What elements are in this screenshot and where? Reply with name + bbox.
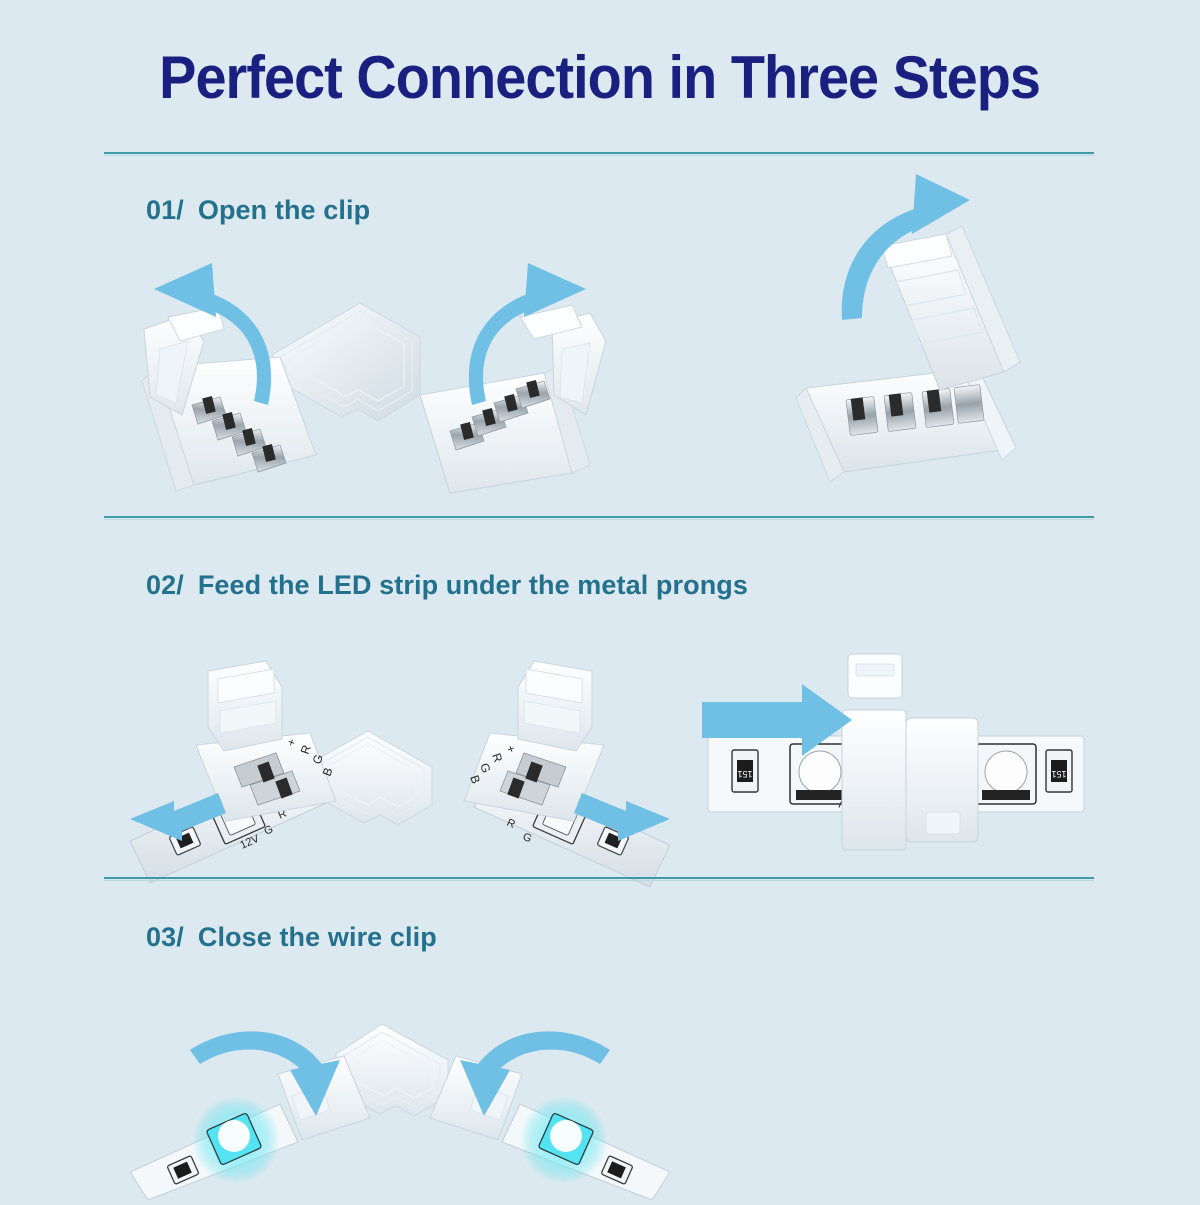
page-title: Perfect Connection in Three Steps bbox=[160, 48, 1041, 108]
divider-sub-line bbox=[104, 880, 1094, 881]
figure-straight-connector-feed-strip: 151 151 R R G 12V bbox=[690, 640, 1100, 885]
connector-body bbox=[842, 654, 978, 850]
connector-left-arm bbox=[142, 307, 316, 491]
figure-l-connector-closed-lit bbox=[130, 1000, 670, 1200]
step-text-02: Feed the LED strip under the metal prong… bbox=[198, 570, 748, 600]
step-number-03: 03/ bbox=[146, 922, 184, 952]
step-text-03: Close the wire clip bbox=[198, 922, 437, 952]
divider-after-step-1 bbox=[104, 516, 1094, 520]
clip-lid-right-upright bbox=[518, 661, 592, 751]
divider-after-step-2 bbox=[104, 877, 1094, 881]
figure-straight-connector-open bbox=[770, 160, 1100, 505]
resistor-marking-right: 151 bbox=[1051, 769, 1066, 779]
clip-lid-open bbox=[882, 226, 1020, 390]
led-strip-left-lit bbox=[130, 1096, 298, 1200]
connector-right-arm bbox=[420, 305, 606, 493]
divider-main-line bbox=[104, 516, 1094, 518]
divider-sub-line bbox=[104, 155, 1094, 156]
step-heading-01: 01/Open the clip bbox=[146, 195, 370, 226]
resistor-marking-left: 151 bbox=[737, 769, 752, 779]
step-number-02: 02/ bbox=[146, 570, 184, 600]
divider-main-line bbox=[104, 877, 1094, 879]
divider-main-line bbox=[104, 152, 1094, 154]
infographic-page: Perfect Connection in Three Steps 01/Ope… bbox=[0, 0, 1200, 1200]
step-number-01: 01/ bbox=[146, 195, 184, 225]
strip-marking-g-right: G bbox=[521, 831, 534, 845]
step-heading-02: 02/Feed the LED strip under the metal pr… bbox=[146, 570, 748, 601]
step-text-01: Open the clip bbox=[198, 195, 370, 225]
divider-sub-line bbox=[104, 519, 1094, 520]
clip-lid-left-upright bbox=[208, 661, 282, 751]
figure-l-connector-open bbox=[120, 245, 620, 510]
figure-l-connector-feed-strip: 12V G R R G bbox=[130, 635, 670, 890]
led-strip-right-lit bbox=[502, 1096, 670, 1200]
divider-top bbox=[104, 152, 1094, 156]
connector-base bbox=[796, 368, 1016, 482]
step-heading-03: 03/Close the wire clip bbox=[146, 922, 437, 953]
page-title-container: Perfect Connection in Three Steps bbox=[0, 48, 1200, 108]
